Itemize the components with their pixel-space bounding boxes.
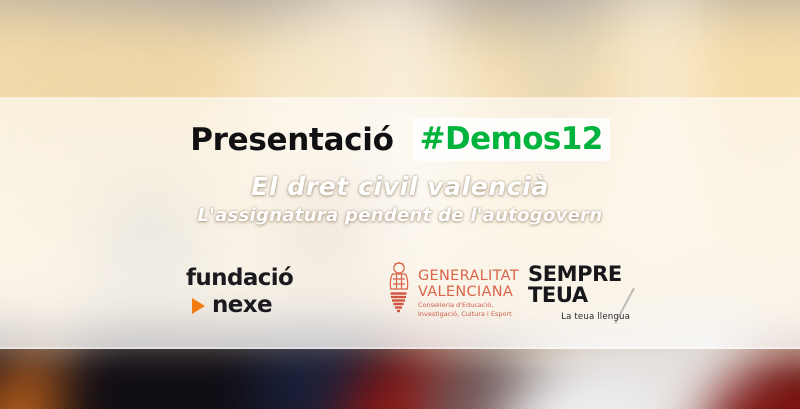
subtitle-block: El dret civil valencià L'assignatura pen… — [0, 172, 800, 226]
logo-sempre-teua: SEMPRE TEUA La teua llengua — [528, 264, 632, 326]
play-triangle-icon — [192, 298, 205, 314]
nexe-wordmark-line2-row: nexe — [186, 293, 318, 318]
gva-department-line2: Investigació, Cultura i Esport — [418, 310, 519, 318]
hashtag-label: #Demos12 — [420, 121, 603, 157]
sponsor-logo-row: fundació nexe — [0, 258, 800, 332]
gva-department-line1: Conselleria d'Educació, — [418, 301, 519, 309]
gva-emblem-icon — [386, 261, 412, 323]
nexe-wordmark-line2: nexe — [212, 293, 272, 318]
gva-wordmark-line2: VALENCIANA — [418, 284, 519, 300]
sempre-wordmark-line2: TEUA — [528, 285, 632, 306]
subtitle-secondary: L'assignatura pendent de l'autogovern — [0, 205, 800, 226]
slide-content: Presentació #Demos12 El dret civil valen… — [0, 98, 800, 349]
logo-fundacio-nexe: fundació nexe — [186, 266, 318, 324]
gva-wordmark-line1: GENERALITAT — [418, 268, 519, 284]
subtitle-primary: El dret civil valencià — [0, 172, 800, 201]
title-card-slide: Presentació #Demos12 El dret civil valen… — [0, 0, 800, 409]
gva-wordmark: GENERALITAT VALENCIANA Conselleria d'Edu… — [418, 261, 519, 318]
sempre-wordmark-line1: SEMPRE — [528, 264, 632, 285]
nexe-wordmark-line1: fundació — [186, 266, 318, 291]
presentation-title: Presentació — [190, 122, 393, 158]
title-row: Presentació #Demos12 — [0, 118, 800, 161]
hashtag-badge: #Demos12 — [413, 118, 610, 161]
logo-generalitat-valenciana: GENERALITAT VALENCIANA Conselleria d'Edu… — [386, 261, 514, 325]
